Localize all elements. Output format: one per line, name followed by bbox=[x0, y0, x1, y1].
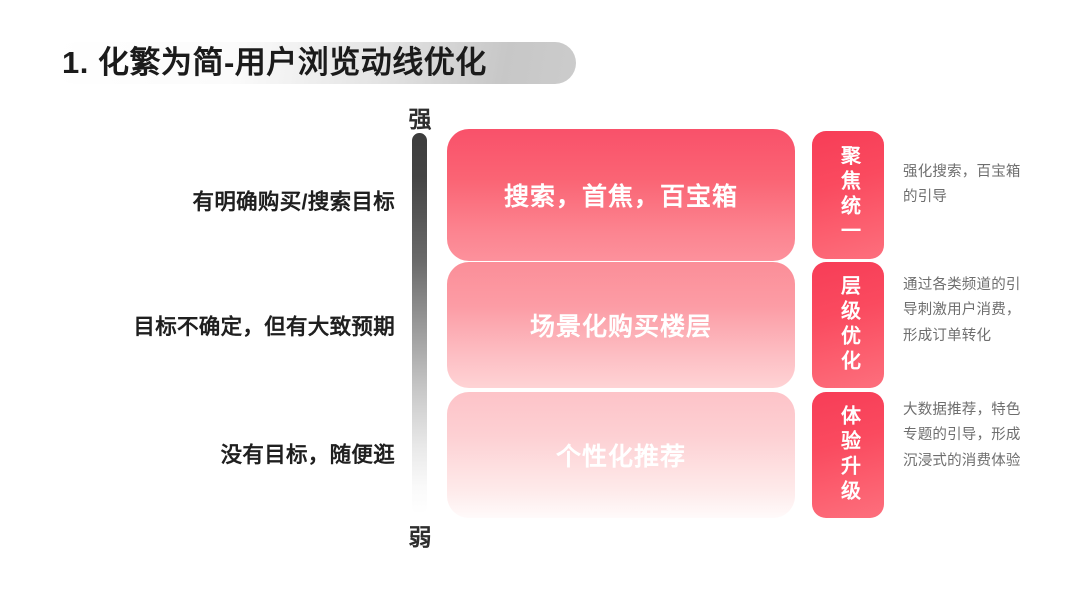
strategy-tag-3[interactable]: 体验升级 bbox=[812, 392, 884, 518]
strategy-tag-2[interactable]: 层级优化 bbox=[812, 262, 884, 388]
page-title-text: 1. 化繁为简-用户浏览动线优化 bbox=[62, 40, 487, 86]
flow-card-1-text: 搜索，首焦，百宝箱 bbox=[504, 177, 738, 213]
strategy-tag-1[interactable]: 聚焦统一 bbox=[812, 131, 884, 259]
flow-card-2[interactable]: 场景化购买楼层 bbox=[447, 262, 795, 388]
strategy-tag-2-text: 层级优化 bbox=[838, 275, 859, 375]
description-1: 强化搜索，百宝箱的引导 bbox=[903, 160, 1031, 211]
page-title: 1. 化繁为简-用户浏览动线优化 bbox=[62, 40, 487, 86]
row-label-2: 目标不确定，但有大致预期 bbox=[40, 310, 395, 341]
flow-card-3[interactable]: 个性化推荐 bbox=[447, 392, 795, 518]
row-label-1: 有明确购买/搜索目标 bbox=[40, 185, 395, 216]
strategy-tag-1-text: 聚焦统一 bbox=[838, 145, 859, 245]
strategy-tag-3-text: 体验升级 bbox=[838, 405, 859, 505]
row-label-3: 没有目标，随便逛 bbox=[40, 438, 395, 469]
flow-card-3-text: 个性化推荐 bbox=[556, 437, 686, 473]
description-2: 通过各类频道的引导刺激用户消费，形成订单转化 bbox=[903, 273, 1031, 349]
axis-label-strong: 强 bbox=[398, 100, 442, 134]
flow-card-2-text: 场景化购买楼层 bbox=[530, 307, 712, 343]
flow-card-1[interactable]: 搜索，首焦，百宝箱 bbox=[447, 129, 795, 261]
axis-label-weak: 弱 bbox=[398, 518, 442, 552]
intensity-axis-bar bbox=[412, 133, 427, 514]
description-3: 大数据推荐，特色专题的引导，形成沉浸式的消费体验 bbox=[903, 398, 1031, 474]
